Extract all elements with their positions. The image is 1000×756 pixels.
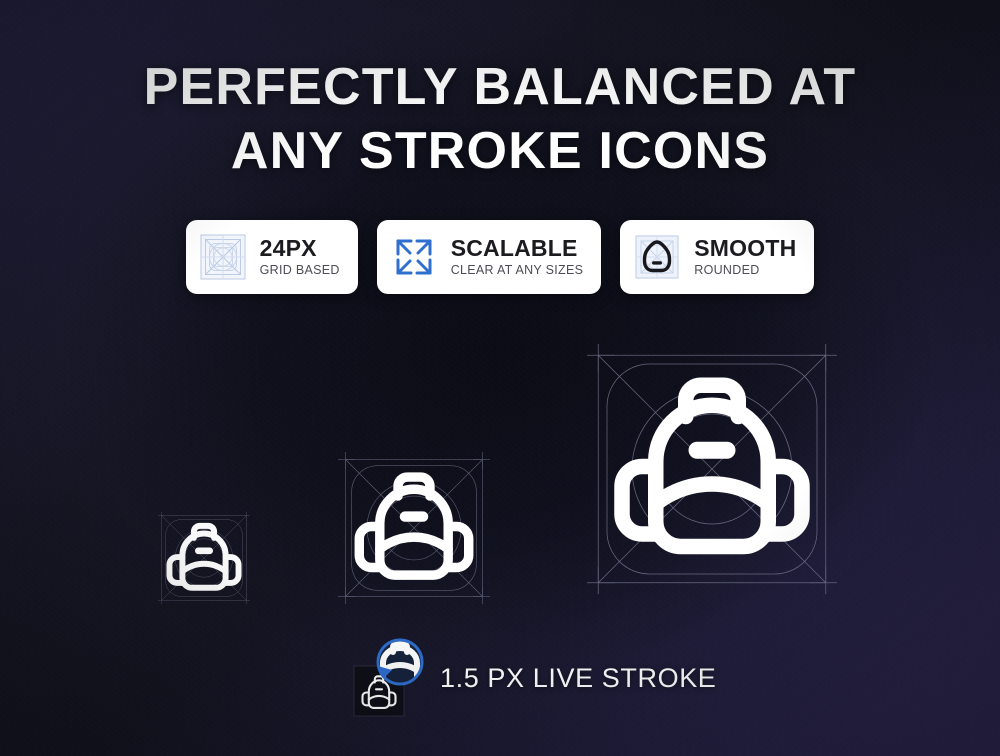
feature-badge-smooth[interactable]: SMOOTH ROUNDED — [620, 220, 814, 294]
backpack-icon-small-svg — [156, 510, 252, 606]
backpack-glyph-large — [622, 385, 802, 546]
backpack-icon-medium-svg — [338, 452, 490, 604]
magnifier-loupe-icon — [352, 636, 432, 720]
page-title: PERFECTLY BALANCED AT ANY STROKE ICONS — [0, 55, 1000, 183]
backpack-glyph-medium — [359, 477, 468, 575]
feature-badge-smooth-text: SMOOTH ROUNDED — [694, 236, 796, 278]
feature-badge-grid-text: 24PX GRID BASED — [260, 236, 340, 278]
feature-badge-smooth-subtitle: ROUNDED — [694, 262, 796, 278]
stroke-caption: 1.5 PX LIVE STROKE — [352, 636, 716, 720]
feature-badge-grid-title: 24PX — [260, 236, 340, 261]
backpack-icon-large — [584, 344, 840, 594]
poster-canvas: PERFECTLY BALANCED AT ANY STROKE ICONS 2… — [0, 0, 1000, 756]
feature-badge-grid[interactable]: 24PX GRID BASED — [186, 220, 358, 294]
page-title-line-1: PERFECTLY BALANCED AT — [0, 55, 1000, 119]
stroke-caption-label: 1.5 PX LIVE STROKE — [440, 663, 716, 694]
backpack-icon-small — [156, 510, 252, 606]
page-title-line-2: ANY STROKE ICONS — [0, 119, 1000, 183]
loupe-lens — [378, 640, 422, 684]
backpack-icon-medium — [338, 452, 490, 604]
expand-arrows-icon — [390, 233, 438, 281]
feature-badge-scalable[interactable]: SCALABLE CLEAR AT ANY SIZES — [377, 220, 602, 294]
feature-badge-scalable-title: SCALABLE — [451, 236, 584, 261]
feature-badge-scalable-text: SCALABLE CLEAR AT ANY SIZES — [451, 236, 584, 278]
feature-badge-scalable-subtitle: CLEAR AT ANY SIZES — [451, 262, 584, 278]
backpack-glyph-small — [169, 526, 238, 588]
grid-square-icon — [199, 233, 247, 281]
rounded-shape-grid-icon — [633, 233, 681, 281]
feature-badge-grid-subtitle: GRID BASED — [260, 262, 340, 278]
backpack-icon-large-svg — [584, 344, 840, 594]
feature-badge-row: 24PX GRID BASED SCALABLE C — [0, 220, 1000, 294]
feature-badge-smooth-title: SMOOTH — [694, 236, 796, 261]
